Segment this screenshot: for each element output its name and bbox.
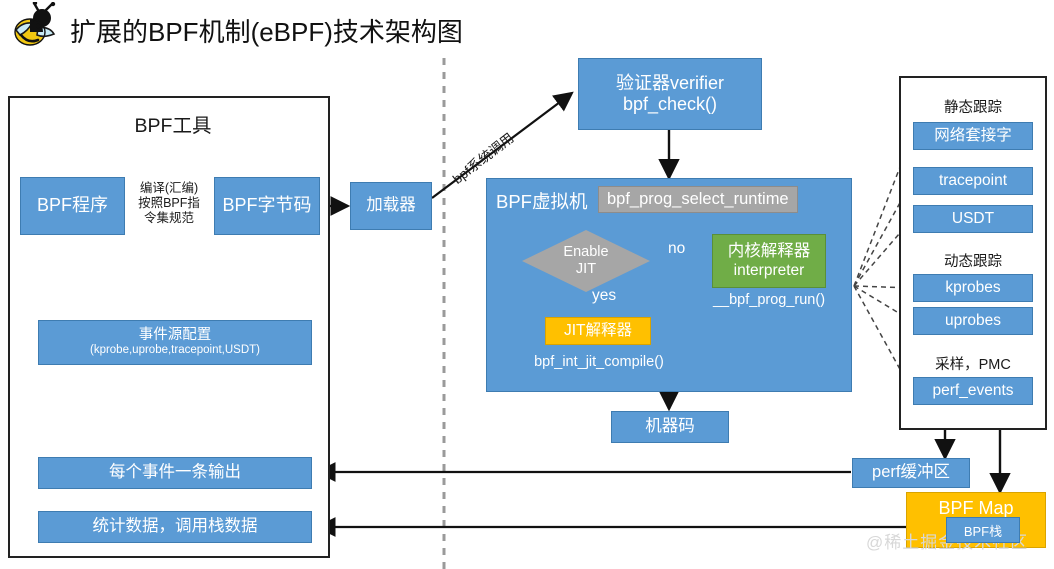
tracing-item-uprobes[interactable]: uprobes: [913, 307, 1033, 335]
bpf-program-box[interactable]: BPF程序: [20, 177, 125, 235]
decision-line1: Enable: [563, 244, 608, 261]
sampling-pmc-heading: 采样，PMC: [899, 353, 1047, 374]
event-source-line2: (kprobe,uprobe,tracepoint,USDT): [90, 344, 260, 358]
verifier-box[interactable]: 验证器verifier bpf_check(): [578, 58, 762, 130]
bee-icon: [8, 2, 66, 50]
tracing-item-usdt[interactable]: USDT: [913, 205, 1033, 233]
tracing-item-kprobes[interactable]: kprobes: [913, 274, 1033, 302]
bpf-tools-heading: BPF工具: [108, 112, 238, 140]
verifier-line1: 验证器verifier: [616, 73, 724, 94]
event-source-config-box[interactable]: 事件源配置 (kprobe,uprobe,tracepoint,USDT): [38, 320, 312, 365]
machine-code-box[interactable]: 机器码: [611, 411, 729, 443]
event-source-line1: 事件源配置: [139, 327, 212, 344]
verifier-line2: bpf_check(): [623, 94, 717, 115]
interpreter-function-label: __bpf_prog_run(): [694, 292, 844, 309]
compile-label-line2: 按照BPF指: [126, 196, 212, 211]
tracing-item-tracepoint[interactable]: tracepoint: [913, 167, 1033, 195]
branch-yes-label: yes: [592, 287, 616, 306]
page-title: 扩展的BPF机制(eBPF)技术架构图: [70, 12, 463, 49]
perf-buffer-box[interactable]: perf缓冲区: [852, 458, 970, 488]
jit-function-label: bpf_int_jit_compile(): [515, 354, 683, 371]
vm-title: BPF虚拟机: [496, 188, 587, 214]
kernel-interpreter-box[interactable]: 内核解释器 interpreter: [712, 234, 826, 288]
output-stats-box[interactable]: 统计数据，调用栈数据: [38, 511, 312, 543]
output-per-event-box[interactable]: 每个事件一条输出: [38, 457, 312, 489]
jit-interpreter-box[interactable]: JIT解释器: [545, 317, 651, 345]
branch-no-label: no: [668, 240, 685, 259]
decision-line2: JIT: [576, 261, 596, 278]
tracing-item-network-socket[interactable]: 网络套接字: [913, 122, 1033, 150]
compile-label-line3: 令集规范: [126, 211, 212, 226]
compile-label: 编译(汇编) 按照BPF指 令集规范: [126, 181, 212, 226]
loader-box[interactable]: 加载器: [350, 182, 432, 230]
bpf-prog-select-runtime-chip[interactable]: bpf_prog_select_runtime: [598, 186, 798, 213]
tracing-item-perf-events[interactable]: perf_events: [913, 377, 1033, 405]
compile-label-line1: 编译(汇编): [126, 181, 212, 196]
interpreter-line2: interpreter: [734, 262, 805, 280]
dynamic-tracing-heading: 动态跟踪: [899, 250, 1047, 271]
bpf-bytecode-box[interactable]: BPF字节码: [214, 177, 320, 235]
static-tracing-heading: 静态跟踪: [899, 96, 1047, 117]
interpreter-line1: 内核解释器: [728, 242, 811, 261]
bpf-stack-box[interactable]: BPF栈: [946, 517, 1020, 543]
enable-jit-decision[interactable]: Enable JIT: [522, 230, 650, 292]
